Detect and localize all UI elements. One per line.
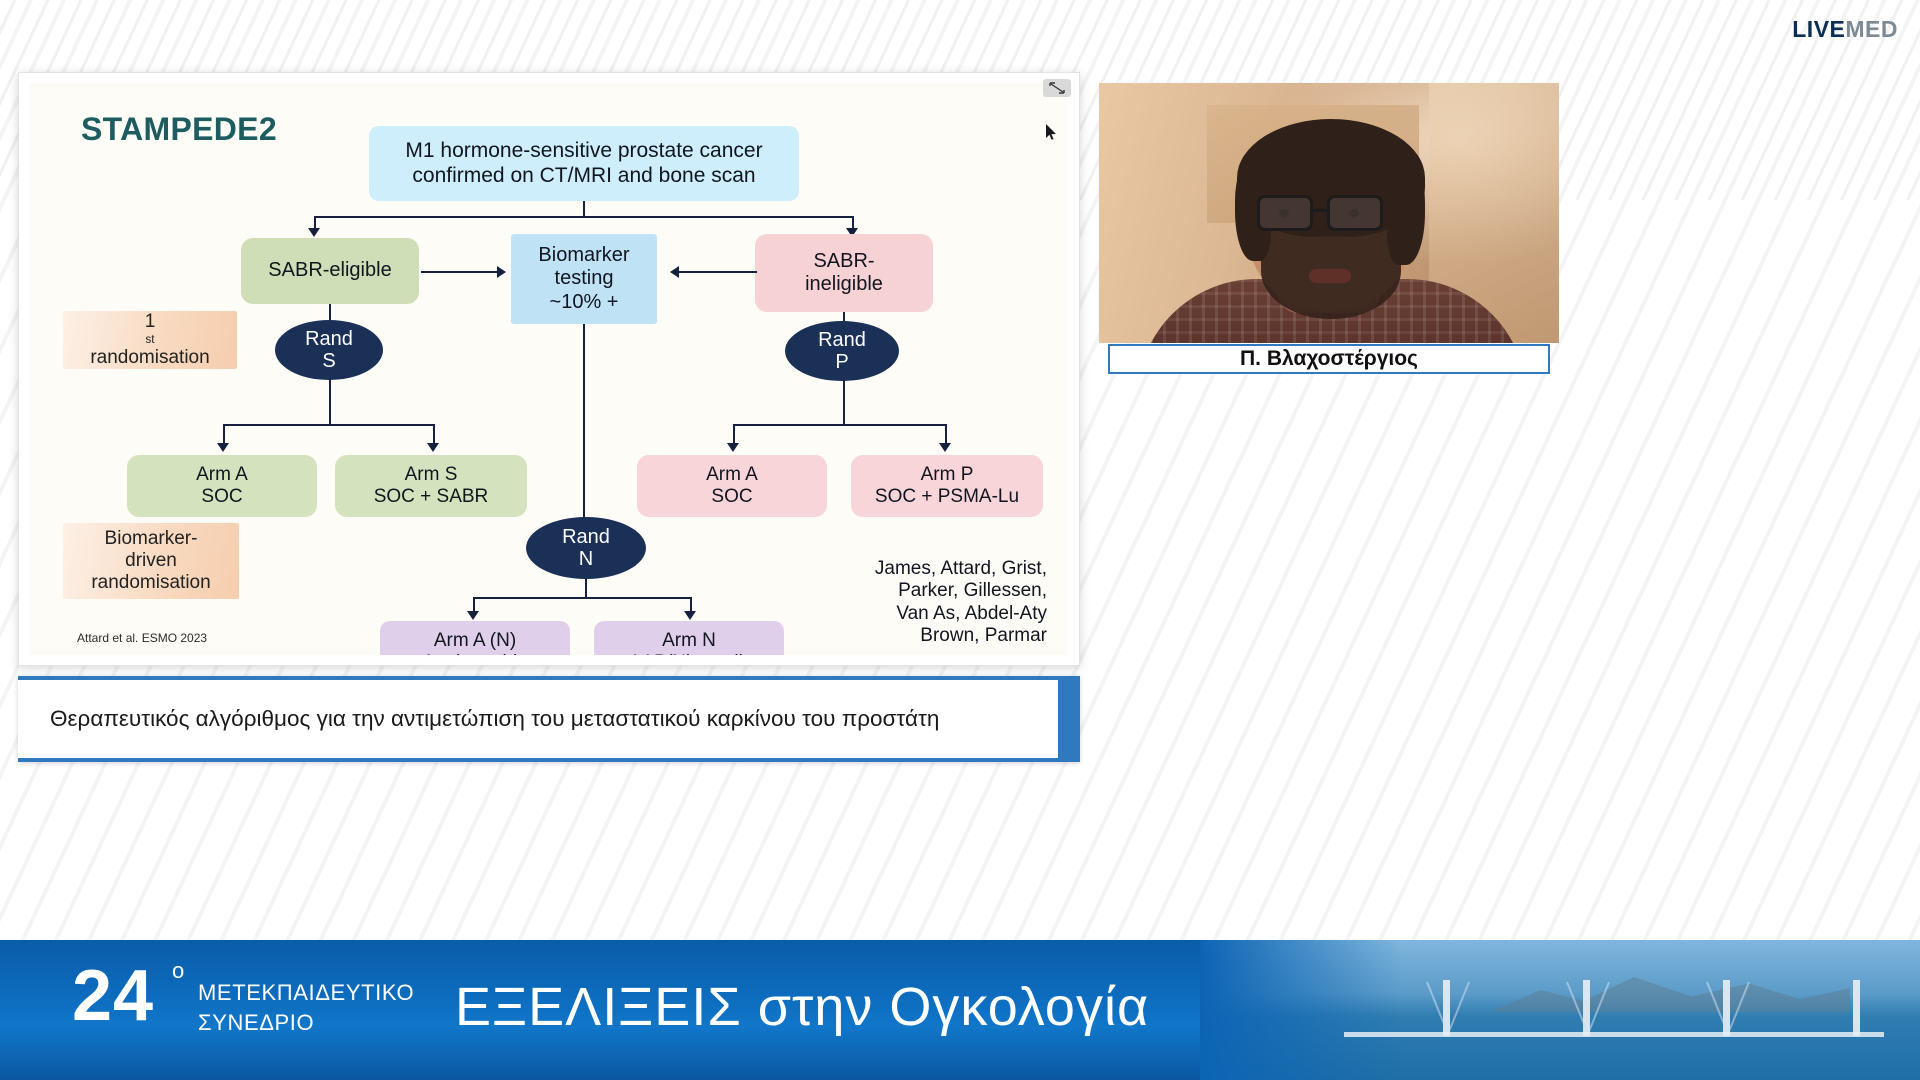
node-arm-p-line2: SOC + PSMA-Lu [875, 486, 1019, 508]
node-arm-a-pink-line2: SOC [711, 486, 752, 508]
node-population-line1: M1 hormone-sensitive prostate cancer [405, 139, 762, 164]
banner-degree-symbol: o [172, 958, 184, 984]
node-rand-p: Rand P [785, 321, 899, 381]
mouse-cursor [1046, 124, 1058, 147]
arrow-arm-a-n [467, 611, 479, 620]
banner-subtitle: ΜΕΤΕΚΠΑΙΔΕΥΤΙΚΟ ΣΥΝΕΔΡΙΟ [198, 978, 414, 1037]
banner-subtitle-line2: ΣΥΝΕΔΡΙΟ [198, 1008, 414, 1038]
node-arm-a-soc-green: Arm A SOC [127, 455, 317, 517]
edge-rand-s-stem [329, 379, 331, 425]
caption-inner: Θεραπευτικός αλγόριθμος για την αντιμετώ… [18, 680, 1058, 758]
node-biomarker-randomisation: Biomarker- driven randomisation [63, 523, 239, 599]
expand-icon[interactable] [1043, 79, 1071, 97]
node-rand-s: Rand S [275, 320, 383, 380]
conference-banner: 24 o ΜΕΤΕΚΠΑΙΔΕΥΤΙΚΟ ΣΥΝΕΔΡΙΟ ΕΞΕΛΙΞΕΙΣ … [0, 940, 1920, 1080]
node-arm-n-line1: Arm N [662, 630, 716, 652]
bridge-pylon-4 [1853, 980, 1860, 1036]
node-arm-s-sabr: Arm S SOC + SABR [335, 455, 527, 517]
caption-text: Θεραπευτικός αλγόριθμος για την αντιμετώ… [50, 706, 939, 732]
node-sabr-ineligible-line1: SABR- [813, 250, 874, 273]
node-population-line2: confirmed on CT/MRI and bone scan [412, 164, 755, 189]
edge-ineligible-to-biomarker [679, 271, 757, 273]
banner-subtitle-line1: ΜΕΤΕΚΠΑΙΔΕΥΤΙΚΟ [198, 978, 414, 1008]
node-rand-p-line1: Rand [818, 329, 866, 351]
arrow-arm-p [939, 443, 951, 452]
slide-reference: Attard et al. ESMO 2023 [77, 631, 207, 645]
banner-title: ΕΞΕΛΙΞΕΙΣ στην Ογκολογία [455, 976, 1149, 1038]
node-arm-a-pink-line1: Arm A [706, 464, 758, 486]
author-line-1: James, Attard, Grist, [817, 558, 1047, 580]
node-population: M1 hormone-sensitive prostate cancer con… [369, 126, 799, 201]
glasses-bridge [1313, 209, 1327, 212]
slide-viewer[interactable]: STAMPEDE2 M1 hormone-sensitive prostate … [18, 72, 1080, 666]
edge-population-bus [314, 216, 853, 218]
node-biomarker-line1: Biomarker [538, 244, 629, 267]
node-arm-n-line2: AAP/Niraparib [629, 652, 749, 655]
node-rand-n-line1: Rand [562, 526, 610, 548]
logo-live-text: LIVE [1792, 16, 1845, 42]
node-rand-n: Rand N [526, 517, 646, 579]
edge-rand-p-stem [843, 380, 845, 425]
node-arm-a-green-line1: Arm A [196, 464, 248, 486]
node-arm-a-green-line2: SOC [201, 486, 242, 508]
banner-title-bold: ΕΞΕΛΙΞΕΙΣ [455, 977, 742, 1037]
author-line-2: Parker, Gillessen, [817, 580, 1047, 602]
speaker-hair-right [1387, 161, 1425, 265]
node-arm-p-line1: Arm P [921, 464, 974, 486]
node-sabr-ineligible-line2: ineligible [805, 273, 883, 296]
node-first-randomisation: 1st randomisation [63, 311, 237, 369]
arrow-ineligible-to-biomarker [670, 266, 679, 278]
speaker-video[interactable] [1099, 83, 1559, 343]
speaker-mouth [1309, 269, 1351, 283]
caption-bar: Θεραπευτικός αλγόριθμος για την αντιμετώ… [18, 676, 1080, 762]
node-first-rand-line2: randomisation [90, 347, 209, 369]
node-biomarker-rand-line2: driven [125, 550, 177, 572]
arrow-arm-a-green [217, 443, 229, 452]
banner-photo [1200, 940, 1920, 1080]
livemed-logo: LIVEMED [1792, 16, 1898, 43]
arrow-arm-n [684, 611, 696, 620]
node-biomarker-rand-line1: Biomarker- [105, 528, 198, 550]
edge-eligible-to-biomarker [421, 271, 499, 273]
node-rand-p-line2: P [835, 351, 848, 373]
edge-rand-n-bus [473, 597, 691, 599]
node-arm-a-n-apalutamide: Arm A (N) Apalutamide [380, 621, 570, 655]
edge-rand-n-stem [585, 578, 587, 598]
glasses-lens-right [1327, 195, 1383, 231]
arrow-to-sabr-eligible [308, 228, 320, 237]
node-biomarker-line3: ~10% + [550, 291, 619, 314]
node-biomarker-testing: Biomarker testing ~10% + [511, 234, 657, 324]
node-rand-s-line2: S [322, 350, 335, 372]
speaker-name-plate: Π. Βλαχοστέργιος [1108, 344, 1550, 374]
node-arm-a-n-line1: Arm A (N) [434, 630, 516, 652]
speaker-name: Π. Βλαχοστέργιος [1240, 347, 1418, 371]
node-arm-s-line1: Arm S [405, 464, 458, 486]
banner-title-light: στην Ογκολογία [742, 977, 1149, 1037]
glasses-lens-left [1257, 195, 1313, 231]
edge-rand-s-bus [223, 424, 435, 426]
node-sabr-ineligible: SABR- ineligible [755, 234, 933, 312]
node-sabr-eligible: SABR-eligible [241, 238, 419, 304]
node-biomarker-rand-line3: randomisation [91, 572, 210, 594]
node-biomarker-line2: testing [555, 267, 614, 290]
node-arm-n-aap: Arm N AAP/Niraparib [594, 621, 784, 655]
arrow-arm-s [427, 443, 439, 452]
app-root: LIVEMED STAMPEDE2 M1 hormone-sensitive p… [0, 0, 1920, 1080]
slide-canvas: STAMPEDE2 M1 hormone-sensitive prostate … [29, 83, 1069, 655]
edge-rand-p-bus [733, 424, 945, 426]
bridge-deck [1344, 1032, 1884, 1037]
bridge-cable-1 [1449, 982, 1470, 1031]
node-arm-a-soc-pink: Arm A SOC [637, 455, 827, 517]
slide-authors: James, Attard, Grist, Parker, Gillessen,… [817, 558, 1047, 648]
author-line-4: Brown, Parmar [817, 625, 1047, 647]
arrow-eligible-to-biomarker [497, 266, 506, 278]
node-arm-s-line2: SOC + SABR [374, 486, 489, 508]
arrow-arm-a-pink [727, 443, 739, 452]
banner-mountains [1490, 966, 1850, 1012]
node-rand-n-line2: N [579, 548, 593, 570]
node-arm-a-n-line2: Apalutamide [422, 652, 528, 655]
node-first-rand-line1: 1st [145, 311, 156, 347]
slide-title: STAMPEDE2 [81, 111, 277, 148]
node-rand-s-line1: Rand [305, 328, 353, 350]
edge-population-stem [583, 201, 585, 217]
author-line-3: Van As, Abdel-Aty [817, 603, 1047, 625]
banner-edition-number: 24 [72, 960, 154, 1032]
node-arm-p-psma: Arm P SOC + PSMA-Lu [851, 455, 1043, 517]
edge-biomarker-to-rand-n [583, 324, 585, 531]
node-sabr-eligible-label: SABR-eligible [268, 259, 391, 282]
logo-med-text: MED [1845, 16, 1898, 42]
